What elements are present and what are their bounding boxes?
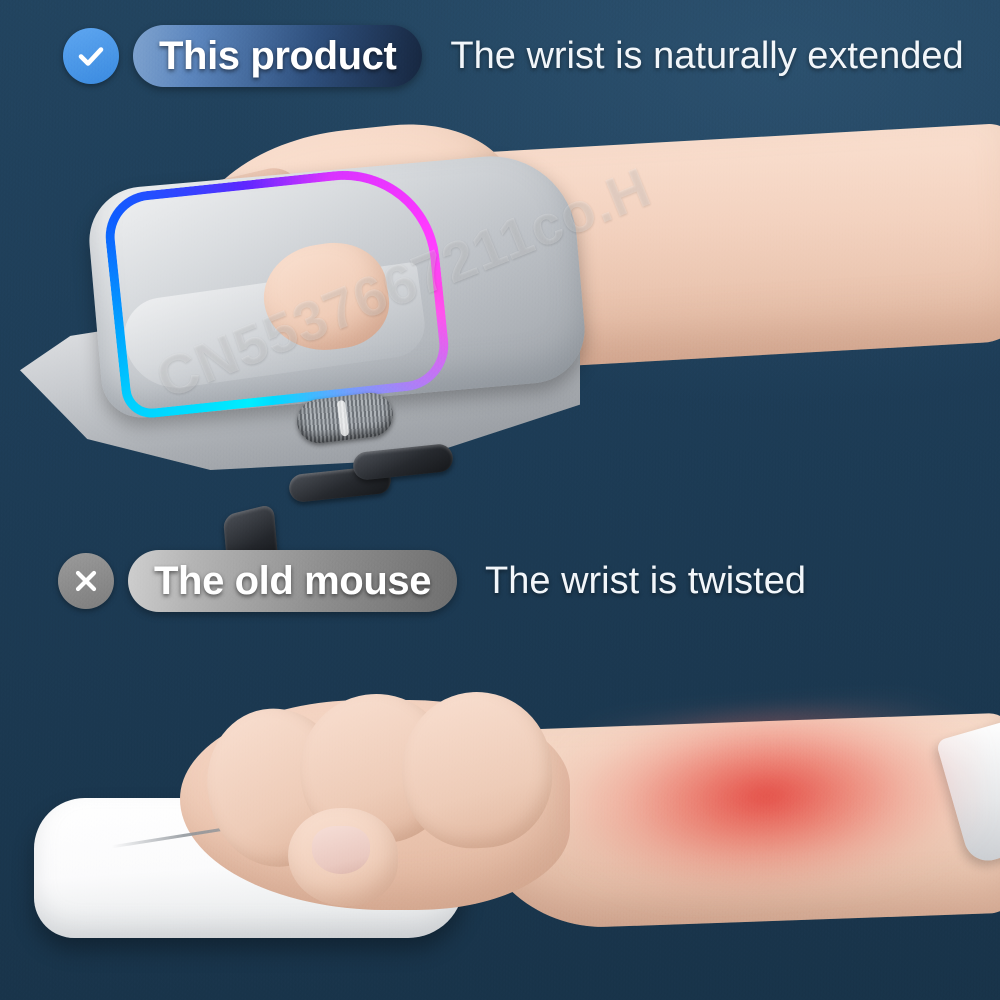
photo-flat-mouse-in-hand: [0, 690, 1000, 975]
product-comparison-poster: This product The wrist is naturally exte…: [0, 0, 1000, 1000]
caption-wrist-extended: The wrist is naturally extended: [450, 35, 963, 78]
x-icon: [58, 553, 114, 609]
pill-old-mouse-label: The old mouse: [154, 559, 431, 604]
header-old-mouse: The old mouse The wrist is twisted: [58, 550, 806, 612]
pill-old-mouse: The old mouse: [128, 550, 457, 612]
thumb-nail: [312, 826, 370, 874]
photo-vertical-mouse-in-hand: [0, 112, 1000, 482]
pill-this-product: This product: [133, 25, 422, 87]
pill-this-product-label: This product: [159, 34, 396, 79]
header-this-product: This product The wrist is naturally exte…: [63, 25, 964, 87]
check-icon: [63, 28, 119, 84]
caption-wrist-twisted: The wrist is twisted: [485, 560, 806, 603]
